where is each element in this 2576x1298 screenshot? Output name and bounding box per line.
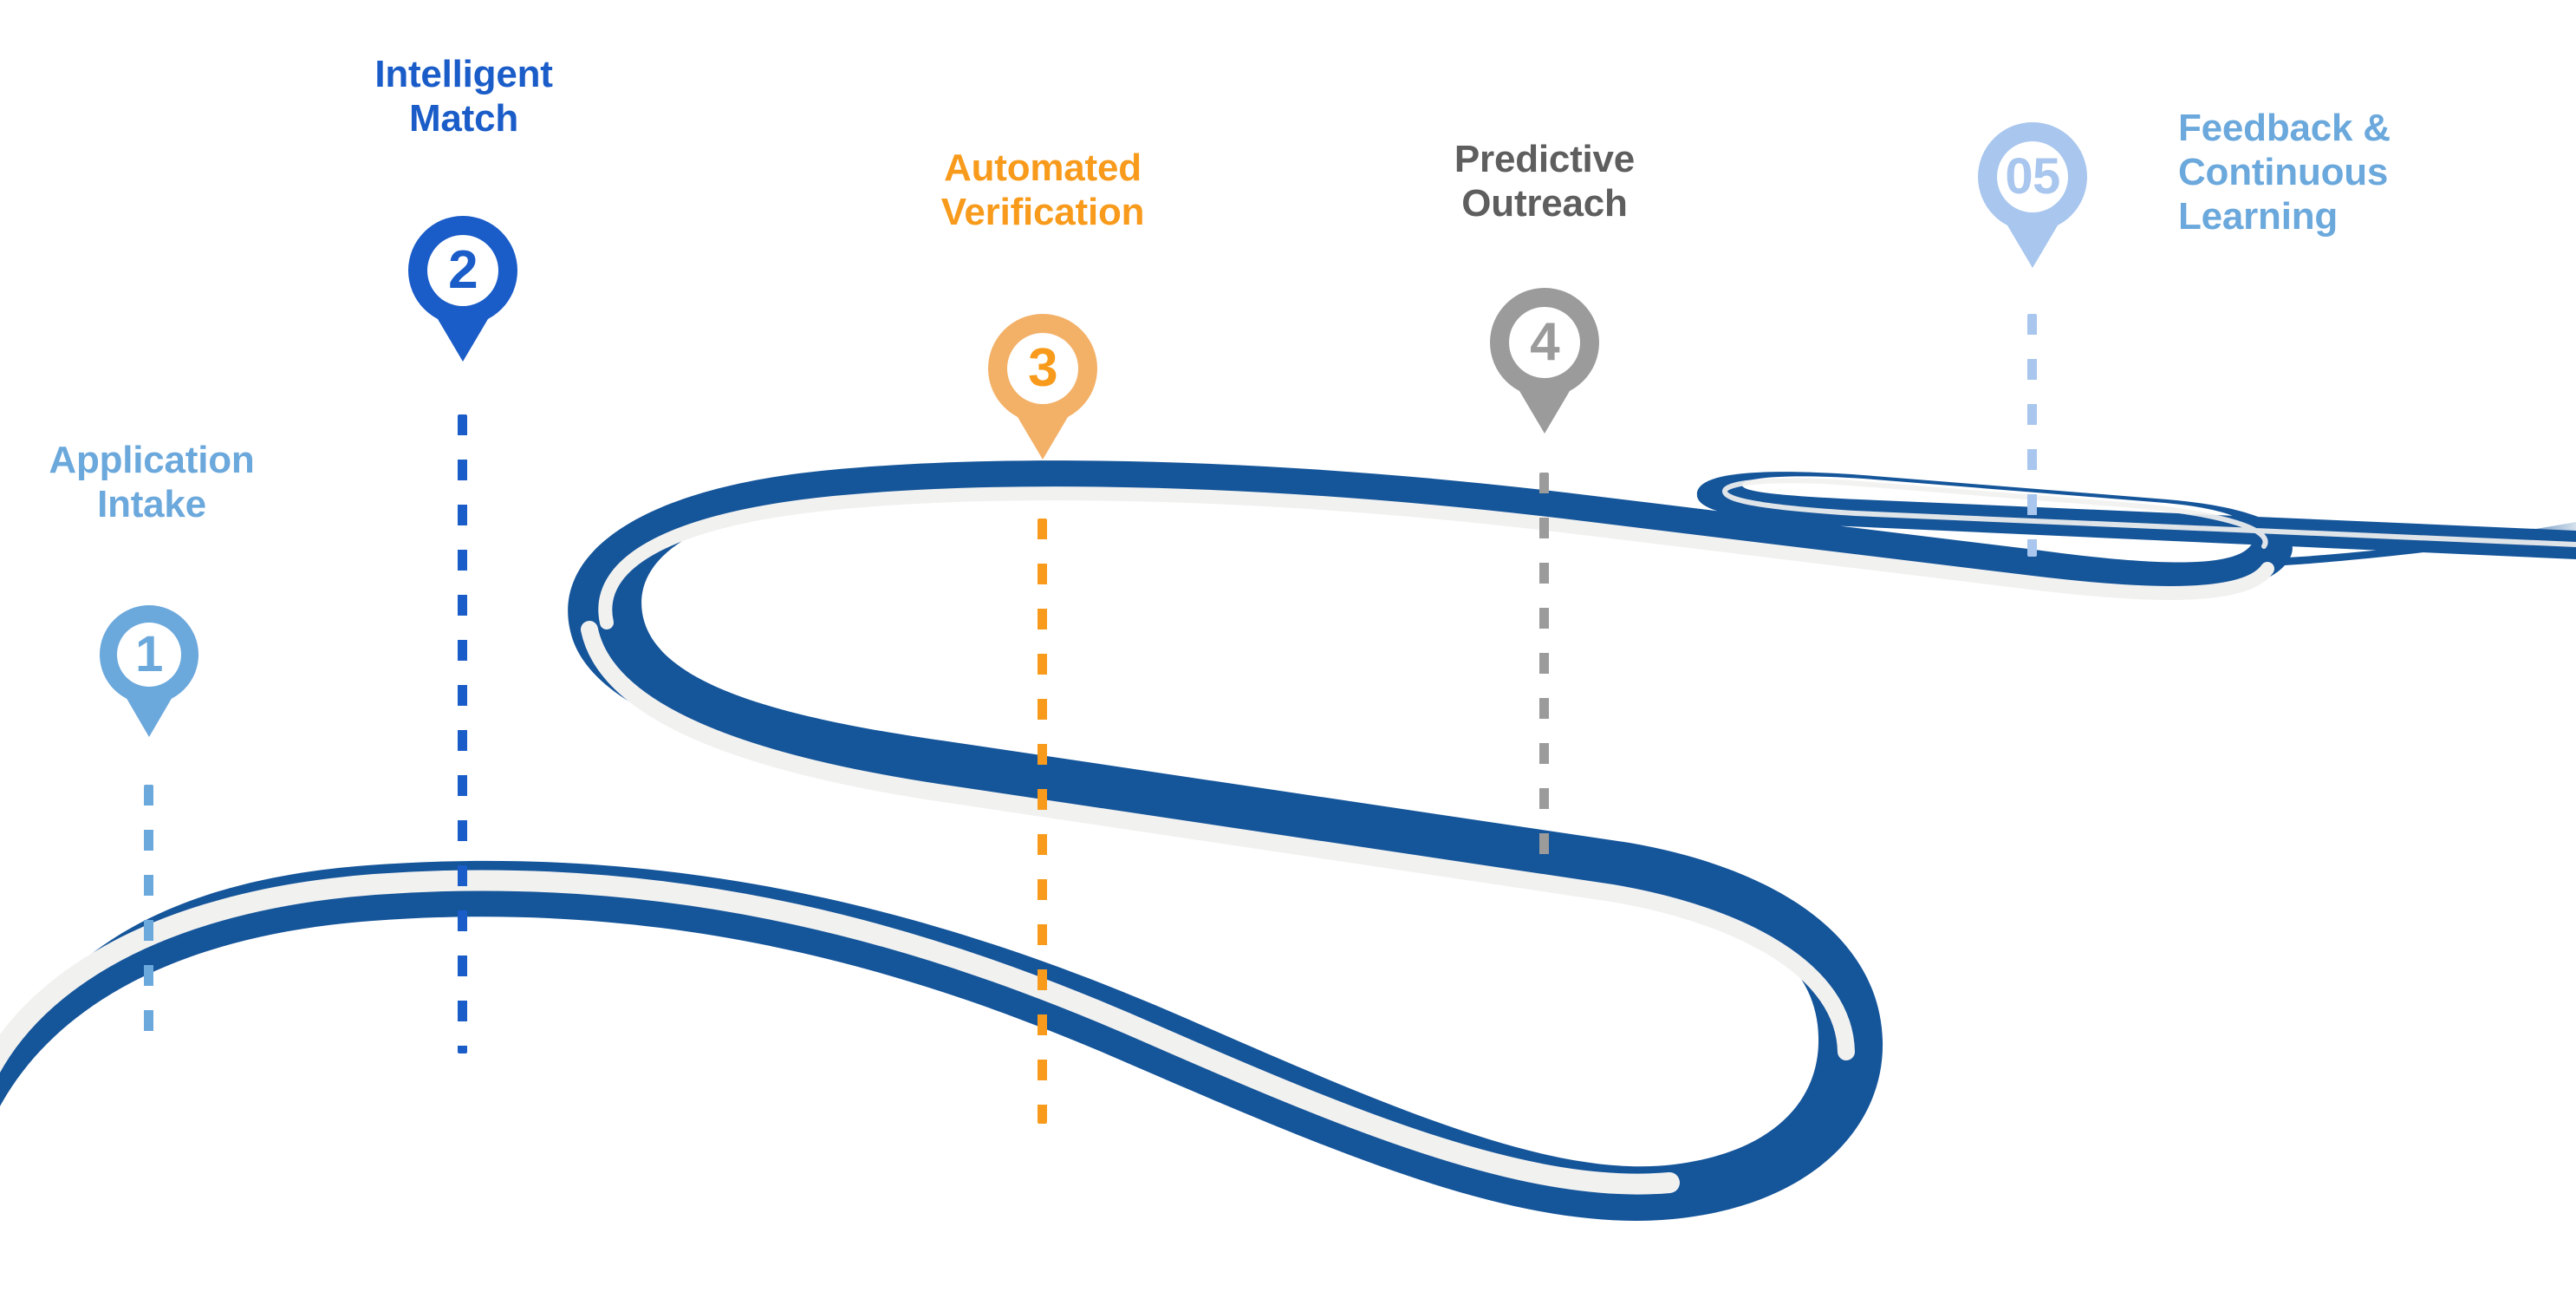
step-5-connector-line xyxy=(2027,314,2037,557)
step-3-pin-icon[interactable]: 3 xyxy=(988,314,1097,460)
step-2-label: Intelligent Match xyxy=(321,52,607,140)
step-1-pin-icon[interactable]: 1 xyxy=(100,605,198,737)
markers-layer: Application Intake 1 Intelligent Match xyxy=(0,0,2576,1298)
step-3-label: Automated Verification xyxy=(878,146,1207,234)
step-4-label: Predictive Outreach xyxy=(1389,137,1701,225)
step-3-connector-line xyxy=(1038,519,1047,1124)
step-5-pin-icon[interactable]: 05 xyxy=(1978,122,2087,268)
step-4-connector-line xyxy=(1539,473,1549,867)
step-1-connector-line xyxy=(144,785,153,1040)
step-5-label: Feedback & Continuous Learning xyxy=(2178,106,2525,238)
step-2-connector-line xyxy=(458,414,467,1053)
step-2-pin-icon[interactable]: 2 xyxy=(408,216,517,362)
step-1-label: Application Intake xyxy=(9,438,295,526)
infographic-canvas: Application Intake 1 Intelligent Match xyxy=(0,0,2576,1298)
step-4-pin-icon[interactable]: 4 xyxy=(1490,288,1599,434)
